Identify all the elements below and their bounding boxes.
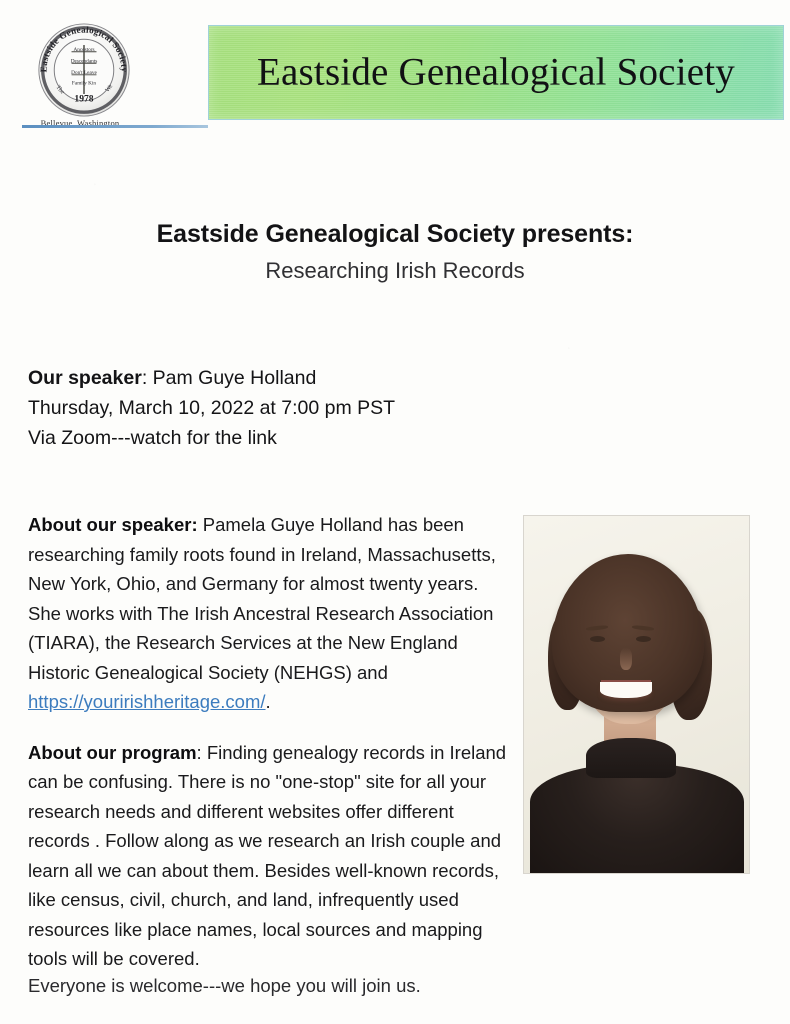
- svg-text:Ancestors: Ancestors: [73, 47, 94, 53]
- about-speaker-label: About our speaker:: [28, 514, 198, 535]
- photo-nose: [620, 648, 632, 670]
- event-location: Via Zoom---watch for the link: [28, 423, 548, 453]
- page-subtitle: Researching Irish Records: [0, 258, 790, 284]
- about-speaker-text-tail: .: [266, 691, 271, 712]
- page-title: Eastside Genealogical Society presents:: [0, 220, 790, 249]
- event-datetime: Thursday, March 10, 2022 at 7:00 pm PST: [28, 393, 548, 423]
- speaker-label: Our speaker: [28, 367, 142, 389]
- photo-eye-right: [636, 636, 651, 642]
- about-program-text: : Finding genealogy records in Ireland c…: [28, 742, 506, 970]
- closing-line: Everyone is welcome---we hope you will j…: [28, 975, 421, 997]
- about-speaker-paragraph: About our speaker: Pamela Guye Holland h…: [28, 510, 510, 717]
- svg-text:Don't Leave: Don't Leave: [71, 70, 97, 76]
- about-speaker-text: Pamela Guye Holland has been researching…: [28, 514, 496, 683]
- body-content: About our speaker: Pamela Guye Holland h…: [28, 510, 510, 984]
- organization-title: Eastside Genealogical Society: [209, 49, 783, 94]
- letterhead: Eastside Genealogical Society The We Anc…: [0, 0, 790, 132]
- svg-text:Family Kin: Family Kin: [72, 80, 97, 86]
- speaker-photo: [524, 516, 749, 873]
- svg-text:1978: 1978: [74, 94, 93, 105]
- flyer-page: Eastside Genealogical Society The We Anc…: [0, 0, 790, 1024]
- photo-smile: [600, 682, 652, 698]
- letterhead-banner: Eastside Genealogical Society: [208, 25, 784, 120]
- speaker-name: : Pam Guye Holland: [142, 367, 317, 389]
- letterhead-divider: [22, 125, 208, 128]
- about-program-paragraph: About our program: Finding genealogy rec…: [28, 738, 510, 974]
- photo-shoulders: [530, 764, 744, 873]
- society-seal-icon: Eastside Genealogical Society The We Anc…: [36, 22, 132, 118]
- speaker-line: Our speaker: Pam Guye Holland: [28, 363, 548, 393]
- svg-text:Descendants: Descendants: [71, 58, 98, 64]
- event-details: Our speaker: Pam Guye Holland Thursday, …: [28, 363, 548, 453]
- about-program-label: About our program: [28, 742, 197, 763]
- society-logo: Eastside Genealogical Society The We Anc…: [22, 22, 138, 128]
- photo-turtleneck-collar: [586, 738, 676, 778]
- irish-heritage-link[interactable]: https://youririshheritage.com/: [28, 691, 266, 712]
- photo-eye-left: [590, 636, 605, 642]
